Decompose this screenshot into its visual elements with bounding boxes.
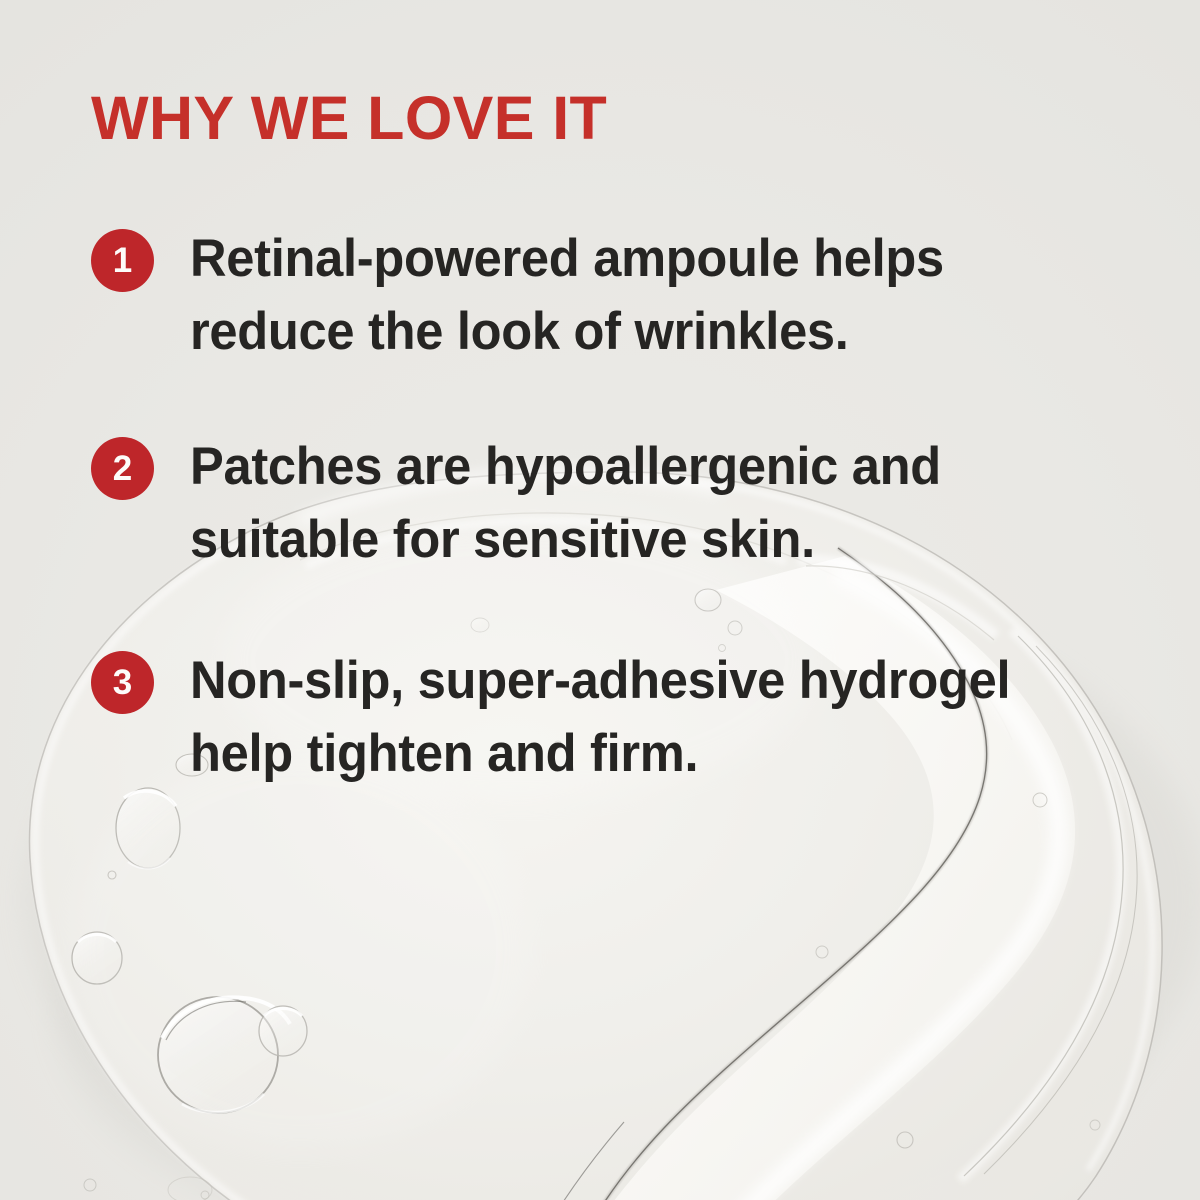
benefit-text-1: Retinal-powered ampoule helps reduce the… [190,222,944,368]
benefit-number-badge-2: 2 [91,437,154,500]
benefit-text-2-line-1: Patches are hypoallergenic and [190,430,941,503]
benefit-item-1: 1 Retinal-powered ampoule helps reduce t… [91,222,979,368]
benefit-text-2-line-2: suitable for sensitive skin. [190,503,941,576]
benefit-text-1-line-1: Retinal-powered ampoule helps [190,222,944,295]
benefit-item-2: 2 Patches are hypoallergenic and suitabl… [91,430,976,576]
benefit-text-3-line-2: help tighten and firm. [190,717,1010,790]
benefit-text-1-line-2: reduce the look of wrinkles. [190,295,944,368]
benefit-item-3: 3 Non-slip, super-adhesive hydrogel help… [91,644,1049,790]
promo-image-canvas: WHY WE LOVE IT 1 Retinal-powered ampoule… [0,0,1200,1200]
benefit-number-badge-1: 1 [91,229,154,292]
benefit-text-2: Patches are hypoallergenic and suitable … [190,430,941,576]
benefit-text-3: Non-slip, super-adhesive hydrogel help t… [190,644,1010,790]
benefit-number-badge-3: 3 [91,651,154,714]
copy-overlay: WHY WE LOVE IT 1 Retinal-powered ampoule… [0,0,1200,1200]
benefit-text-3-line-1: Non-slip, super-adhesive hydrogel [190,644,1010,717]
page-title: WHY WE LOVE IT [91,88,607,149]
